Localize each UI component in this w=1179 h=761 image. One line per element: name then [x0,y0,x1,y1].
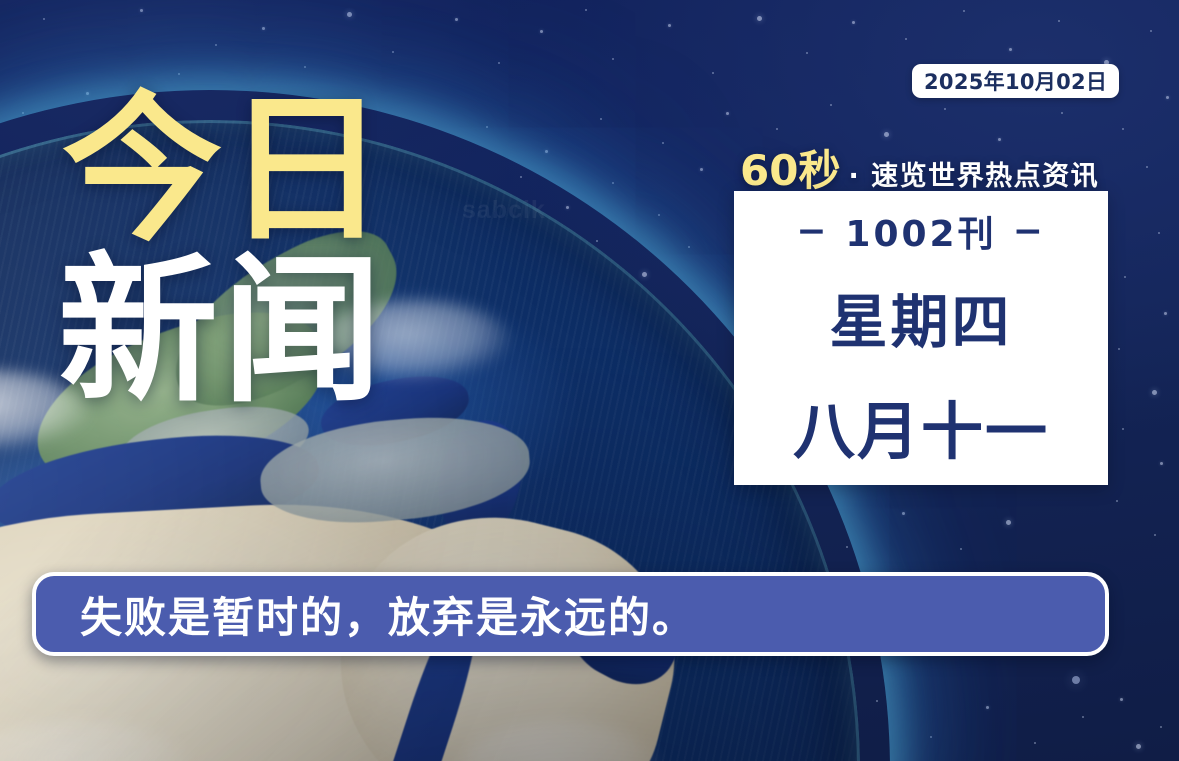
issue-info-card: − 1002刊 − 星期四 八月十一 [734,191,1108,485]
issue-number: 1002刊 [845,205,996,257]
lunar-date-label: 八月十一 [793,381,1049,471]
brand-title-line1: 今日 [62,92,390,249]
issue-dash-left: − [796,211,829,252]
tagline-rest: · 速览世界热点资讯 [848,154,1099,193]
tagline-highlight: 60秒 [740,137,840,198]
weekday-label: 星期四 [829,275,1012,359]
date-badge: 2025年10月02日 [912,64,1119,98]
poster-canvas: sabcik 今日 新闻 2025年10月02日 60秒 · 速览世界热点资讯 … [0,0,1179,761]
brand-title: 今日 新闻 [62,92,390,410]
brand-title-line2: 新闻 [58,253,390,410]
tagline: 60秒 · 速览世界热点资讯 [740,137,1099,198]
issue-row: − 1002刊 − [796,205,1046,257]
quote-text: 失败是暂时的，放弃是永远的。 [80,584,696,645]
issue-dash-right: − [1013,211,1046,252]
quote-bar: 失败是暂时的，放弃是永远的。 [32,572,1109,656]
